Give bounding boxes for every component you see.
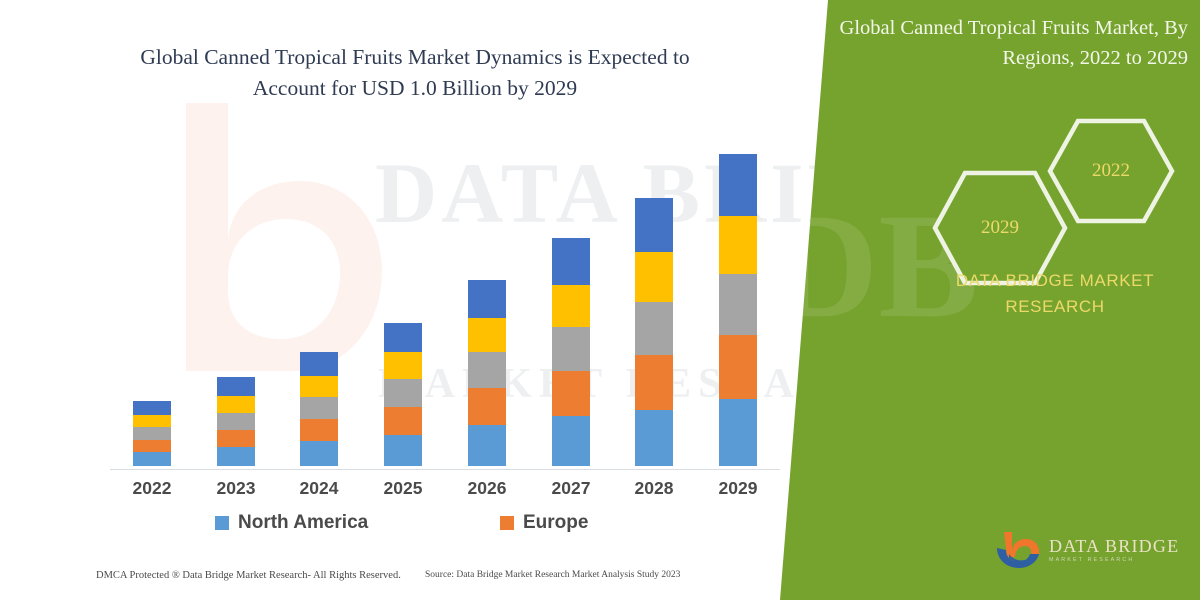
legend-label: North America [238,512,368,534]
hexagon-group: 2022 2029 [900,115,1190,230]
x-axis-label-2024: 2024 [284,478,354,499]
brand-name-line1: DATA BRIDGE MARKET [930,268,1180,294]
legend-label: Europe [523,512,588,534]
data-bridge-logo[interactable]: DATA BRIDGE MARKET RESEARCH [995,525,1190,575]
legend-swatch-icon [215,516,229,530]
bar-segment-2025-segment-5 [384,323,422,353]
chart-legend: North AmericaEurope [110,512,780,542]
bar-2022[interactable] [133,401,171,466]
bar-segment-2025-north-america [384,435,422,466]
bar-segment-2028-europe [635,355,673,410]
footer-copyright: DMCA Protected ® Data Bridge Market Rese… [96,570,401,581]
bar-segment-2026-europe [468,388,506,425]
bridge-mark-icon [995,530,1041,570]
bar-segment-2022-segment-5 [133,401,171,415]
page-title-line2: Account for USD 1.0 Billion by 2029 [253,76,577,100]
bar-segment-2027-north-america [552,416,590,466]
bar-2029[interactable] [719,154,757,466]
bar-segment-2025-segment-3 [384,379,422,407]
bar-segment-2022-segment-3 [133,427,171,439]
hexagon-2029-label: 2029 [981,217,1019,239]
bar-segment-2024-north-america [300,441,338,466]
logo-text: DATA BRIDGE MARKET RESEARCH [1049,537,1179,563]
logo-title: DATA BRIDGE [1049,537,1179,555]
bar-segment-2022-north-america [133,452,171,466]
bar-segment-2024-segment-4 [300,376,338,398]
bar-segment-2027-segment-4 [552,285,590,327]
page-title-line1: Global Canned Tropical Fruits Market Dyn… [140,45,689,69]
bar-segment-2023-segment-4 [217,396,255,413]
bar-segment-2023-segment-5 [217,377,255,396]
panel-title-line1: Global Canned Tropical Fruits Market, By [840,17,1188,39]
x-axis-label-2023: 2023 [201,478,271,499]
bar-segment-2026-segment-3 [468,352,506,388]
x-axis-label-2026: 2026 [452,478,522,499]
x-axis-labels: 20222023202420252026202720282029 [110,478,780,504]
x-axis-label-2029: 2029 [703,478,773,499]
bar-segment-2029-segment-3 [719,274,757,335]
bar-2027[interactable] [552,238,590,466]
brand-name-line2: RESEARCH [930,294,1180,320]
hexagon-2022-label: 2022 [1092,160,1130,182]
bar-segment-2026-segment-5 [468,280,506,317]
bar-segment-2022-segment-4 [133,415,171,427]
x-axis-label-2027: 2027 [536,478,606,499]
logo-subtitle: MARKET RESEARCH [1049,558,1179,563]
panel-title: Global Canned Tropical Fruits Market, By… [810,14,1188,73]
bar-2024[interactable] [300,352,338,466]
bar-segment-2027-europe [552,371,590,416]
legend-item-north-america[interactable]: North America [215,512,368,534]
bar-segment-2027-segment-5 [552,238,590,285]
brand-panel: DB Global Canned Tropical Fruits Market,… [780,0,1200,600]
chart-baseline [110,469,780,470]
panel-title-line2: Regions, 2022 to 2029 [1002,47,1188,69]
bar-2026[interactable] [468,280,506,466]
bar-segment-2029-north-america [719,399,757,466]
chart-panel: DATA BRIDGE MARKET RESEARCH Global Canne… [0,0,880,600]
bar-segment-2024-segment-5 [300,352,338,375]
brand-name: DATA BRIDGE MARKET RESEARCH [930,268,1180,319]
bar-collection [110,140,780,466]
bar-segment-2023-segment-3 [217,413,255,430]
legend-item-europe[interactable]: Europe [500,512,588,534]
bar-segment-2028-segment-3 [635,302,673,355]
stacked-bar-chart [110,140,780,470]
bar-segment-2023-north-america [217,447,255,466]
x-axis-label-2025: 2025 [368,478,438,499]
bar-2023[interactable] [217,377,255,466]
bar-segment-2029-segment-4 [719,216,757,274]
x-axis-label-2028: 2028 [619,478,689,499]
bar-segment-2022-europe [133,440,171,452]
footer-source: Source: Data Bridge Market Research Mark… [425,570,680,580]
bar-segment-2025-segment-4 [384,352,422,379]
bar-2028[interactable] [635,198,673,466]
bar-segment-2028-north-america [635,410,673,466]
infographic-root: DATA BRIDGE MARKET RESEARCH Global Canne… [0,0,1200,600]
bar-segment-2023-europe [217,430,255,447]
bar-segment-2025-europe [384,407,422,435]
bar-segment-2028-segment-4 [635,252,673,302]
bar-segment-2027-segment-3 [552,327,590,371]
bar-segment-2024-segment-3 [300,397,338,419]
page-title: Global Canned Tropical Fruits Market Dyn… [95,42,735,103]
bar-segment-2024-europe [300,419,338,441]
bar-segment-2026-north-america [468,425,506,466]
bar-segment-2028-segment-5 [635,198,673,253]
x-axis-label-2022: 2022 [117,478,187,499]
bar-2025[interactable] [384,323,422,466]
bar-segment-2029-segment-5 [719,154,757,216]
legend-swatch-icon [500,516,514,530]
bar-segment-2026-segment-4 [468,318,506,352]
bar-segment-2029-europe [719,335,757,399]
